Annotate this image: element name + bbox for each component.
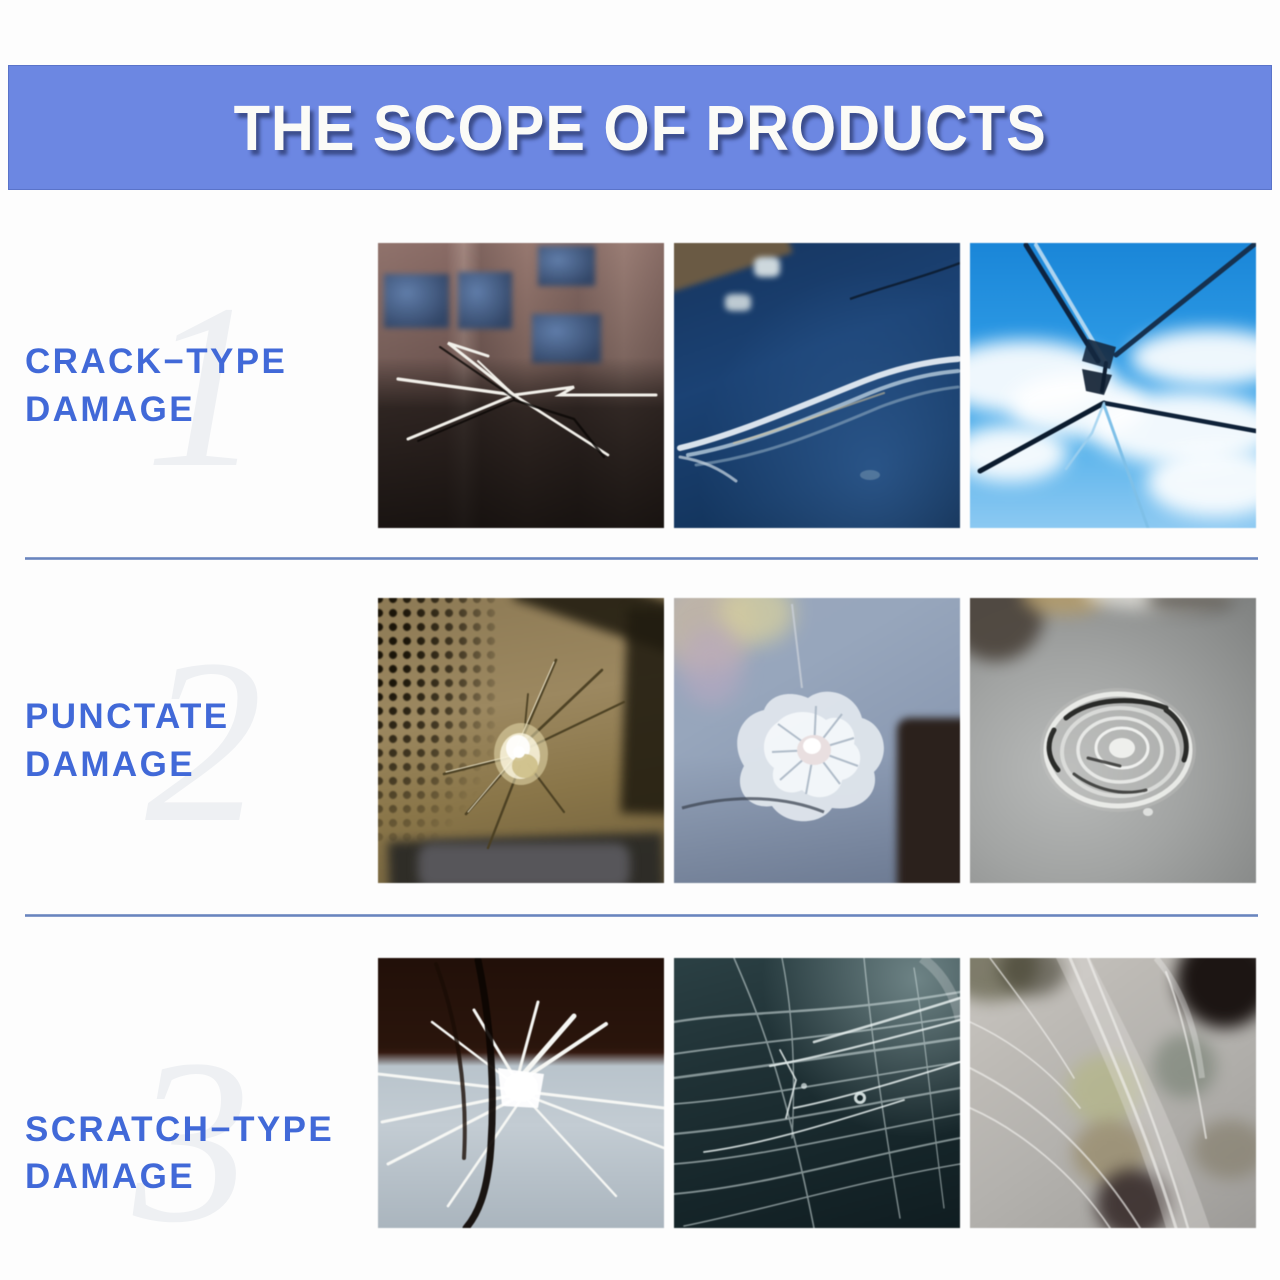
damage-row-punctate: 2 PUNCTATE DAMAGE: [0, 598, 1280, 883]
row-label-line-2: DAMAGE: [25, 741, 370, 788]
damage-row-scratch-type: 3 SCRATCH−TYPE DAMAGE: [0, 958, 1280, 1228]
header-banner: THE SCOPE OF PRODUCTS: [8, 65, 1272, 190]
row-label: SCRATCH−TYPE DAMAGE: [25, 1106, 370, 1201]
row-divider-1: [25, 557, 1258, 560]
infographic-page: THE SCOPE OF PRODUCTS 1 CRACK−TYPE DAMAG…: [0, 0, 1280, 1280]
row-label-line-1: SCRATCH−TYPE: [25, 1106, 370, 1153]
row-label-line-1: CRACK−TYPE: [25, 338, 370, 385]
row-label-block: 3 SCRATCH−TYPE DAMAGE: [25, 958, 370, 1228]
chip-shape: [674, 598, 960, 883]
photo-crack-long-darkblue: [674, 243, 960, 528]
row-label: PUNCTATE DAMAGE: [25, 693, 370, 788]
row-label-line-2: DAMAGE: [25, 386, 370, 433]
scratch-lines: [378, 958, 664, 1228]
chip-rings: [970, 598, 1256, 883]
row-label-line-1: PUNCTATE: [25, 693, 370, 740]
row-label: CRACK−TYPE DAMAGE: [25, 338, 370, 433]
row-divider-2: [25, 914, 1258, 917]
photo-crack-sky-clouds: [970, 243, 1256, 528]
page-title: THE SCOPE OF PRODUCTS: [233, 96, 1046, 160]
photo-grid: [378, 598, 1258, 883]
photo-punctate-flower-chip: [674, 598, 960, 883]
crack-lines: [378, 243, 664, 528]
photo-crack-star-building: [378, 243, 664, 528]
photo-punctate-bullseye-sepia: [378, 598, 664, 883]
photo-grid: [378, 958, 1258, 1228]
scratch-lines: [674, 958, 960, 1228]
row-label-line-2: DAMAGE: [25, 1153, 370, 1200]
row-label-block: 2 PUNCTATE DAMAGE: [25, 598, 370, 883]
crack-lines: [970, 243, 1256, 528]
photo-scratch-fine-lines: [674, 958, 960, 1228]
row-label-block: 1 CRACK−TYPE DAMAGE: [25, 243, 370, 528]
scratch-lines: [970, 958, 1256, 1228]
chip-legs: [378, 598, 664, 883]
photo-punctate-ring-grey: [970, 598, 1256, 883]
crack-lines: [674, 243, 960, 528]
photo-scratch-starburst: [378, 958, 664, 1228]
damage-row-crack-type: 1 CRACK−TYPE DAMAGE: [0, 243, 1280, 528]
photo-scratch-hazy-glass: [970, 958, 1256, 1228]
photo-grid: [378, 243, 1258, 528]
